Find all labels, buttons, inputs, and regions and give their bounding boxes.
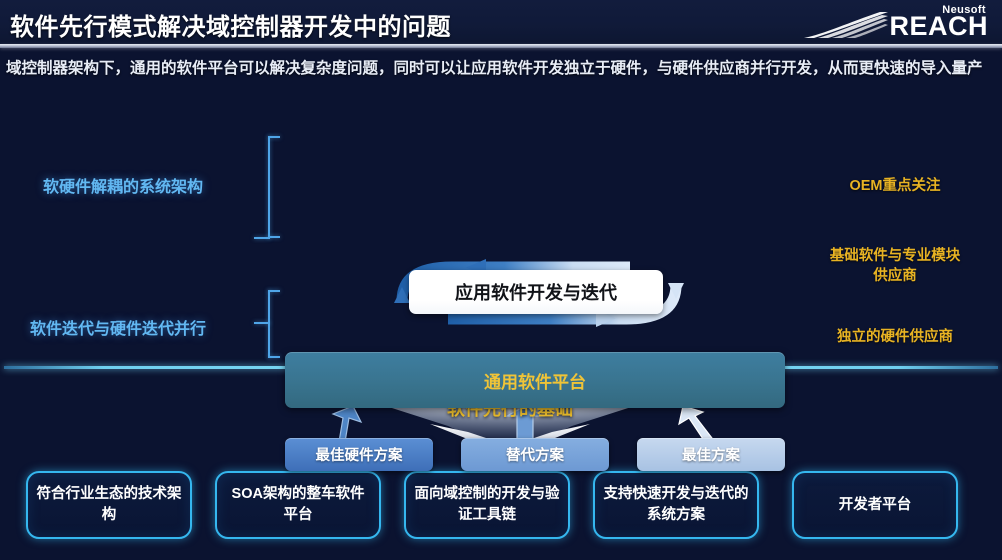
title-bar: 软件先行模式解决域控制器开发中的问题 Neusoft REACH bbox=[0, 0, 1002, 45]
bottom-card-toolchain[interactable]: 面向域控制的开发与验证工具链 bbox=[404, 471, 570, 539]
logo-brand-main: REACH bbox=[889, 13, 988, 40]
right-label-hardware-supplier: 独立的硬件供应商 bbox=[800, 327, 990, 347]
bottom-card-rapid-iteration[interactable]: 支持快速开发与迭代的系统方案 bbox=[593, 471, 759, 539]
title-divider bbox=[0, 44, 1002, 48]
hardware-box-best-solution[interactable]: 最佳方案 bbox=[637, 438, 785, 471]
bracket-upper bbox=[268, 136, 282, 238]
app-software-box[interactable]: 应用软件开发与迭代 bbox=[409, 270, 663, 314]
hardware-box-best-hardware[interactable]: 最佳硬件方案 bbox=[285, 438, 433, 471]
bottom-card-soa-platform[interactable]: SOA架构的整车软件平台 bbox=[215, 471, 381, 539]
hardware-box-alternative[interactable]: 替代方案 bbox=[461, 438, 609, 471]
right-label-basic-software-supplier: 基础软件与专业模块 供应商 bbox=[800, 246, 990, 286]
bracket-lower bbox=[268, 290, 282, 358]
right-label-oem-focus: OEM重点关注 bbox=[800, 176, 990, 196]
left-label-decoupled-architecture: 软硬件解耦的系统架构 bbox=[43, 173, 203, 197]
bottom-card-industry-ecosystem[interactable]: 符合行业生态的技术架构 bbox=[26, 471, 192, 539]
architecture-diagram: 软硬件解耦的系统架构 软件迭代与硬件迭代并行 OEM重点关注 基础软件与专业模块… bbox=[0, 118, 1002, 373]
subtitle-text: 域控制器架构下，通用的软件平台可以解决复杂度问题，同时可以让应用软件开发独立于硬… bbox=[6, 56, 1002, 81]
left-label-parallel-iteration: 软件迭代与硬件迭代并行 bbox=[30, 315, 206, 339]
bottom-card-developer-platform[interactable]: 开发者平台 bbox=[792, 471, 958, 539]
page-title: 软件先行模式解决域控制器开发中的问题 bbox=[10, 7, 451, 42]
universal-software-platform-box[interactable]: 通用软件平台 bbox=[285, 352, 785, 408]
neusoft-reach-logo: Neusoft REACH bbox=[802, 4, 988, 42]
